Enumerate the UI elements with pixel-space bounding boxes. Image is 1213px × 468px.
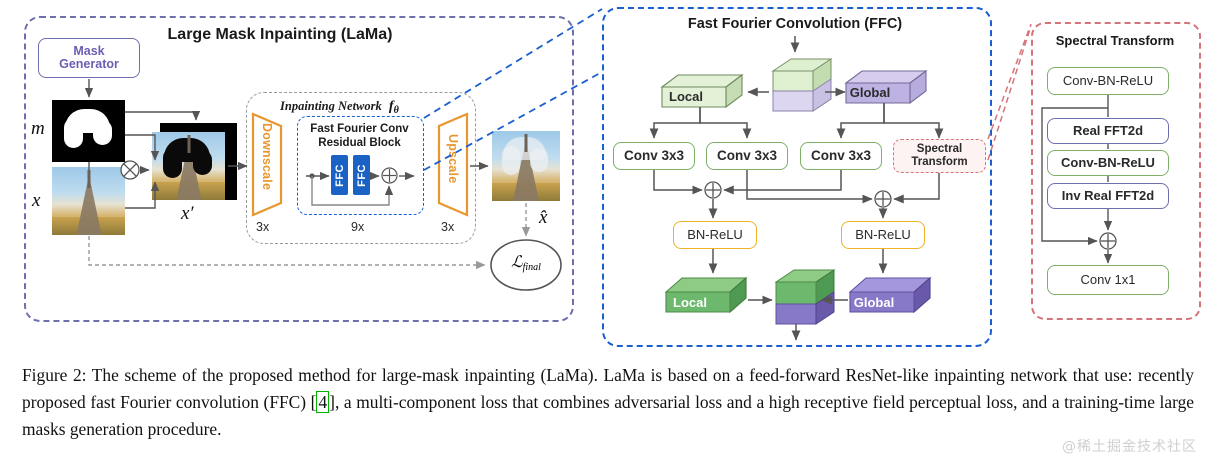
ffc-sum-left xyxy=(704,181,722,199)
merged-output-cube xyxy=(772,266,836,330)
downscale-label: Downscale xyxy=(260,123,274,190)
conv-3x3-box-2[interactable]: Conv 3x3 xyxy=(706,142,788,170)
spectral-panel-title: Spectral Transform xyxy=(1038,33,1192,48)
global-output-box: Global xyxy=(848,276,932,316)
loss-node: ℒfinal xyxy=(489,238,563,292)
source-image xyxy=(52,167,125,235)
spectral-transform-ref-box[interactable]: Spectral Transform xyxy=(893,139,986,173)
spectral-step-conv-bn-relu-2[interactable]: Conv-BN-ReLU xyxy=(1047,150,1169,176)
bn-relu-box-right[interactable]: BN-ReLU xyxy=(841,221,925,249)
inpainting-network-label: Inpainting Network fθ xyxy=(280,99,395,115)
ffc-block-2[interactable]: FFC xyxy=(353,155,370,195)
masked-image-symbol: x′ xyxy=(181,203,194,225)
loss-label: ℒ xyxy=(511,254,523,271)
upscale-label: Upscale xyxy=(446,134,460,183)
inpainting-network-label-text: Inpainting Network xyxy=(280,99,382,113)
spectral-step-conv-bn-relu-1[interactable]: Conv-BN-ReLU xyxy=(1047,67,1169,95)
mask-symbol: m xyxy=(31,118,45,140)
ffc-sum-right xyxy=(874,190,892,208)
inpainting-network-fn: f xyxy=(389,99,394,114)
conv-3x3-box-3[interactable]: Conv 3x3 xyxy=(800,142,882,170)
spectral-ref-line2: Transform xyxy=(911,156,967,169)
bn-relu-box-left[interactable]: BN-ReLU xyxy=(673,221,757,249)
ffc-block-2-label: FFC xyxy=(356,164,368,187)
ffc-panel-title: Fast Fourier Convolution (FFC) xyxy=(620,16,970,32)
global-output-label: Global xyxy=(832,295,916,310)
residual-block-line1: Fast Fourier Conv xyxy=(299,122,420,136)
local-output-label: Local xyxy=(648,295,732,310)
global-input-box: Global xyxy=(844,69,928,107)
lama-panel-title: Large Mask Inpainting (LaMa) xyxy=(150,26,410,44)
local-input-box: Local xyxy=(660,73,744,111)
spectral-ref-line1: Spectral xyxy=(917,143,962,156)
output-image xyxy=(492,131,560,201)
image-symbol: x xyxy=(32,190,40,212)
citation-link-4[interactable]: 4 xyxy=(316,391,329,413)
caption-prefix: Figure 2: xyxy=(22,365,87,385)
residual-block-line2: Residual Block xyxy=(299,136,420,150)
figure-caption: Figure 2: The scheme of the proposed met… xyxy=(22,362,1194,443)
local-input-label: Local xyxy=(644,89,728,104)
loss-subscript: final xyxy=(523,262,541,273)
mask-generator-box[interactable]: Mask Generator xyxy=(38,38,140,78)
watermark: @稀土掘金技术社区 xyxy=(1062,436,1197,456)
mask-generator-label-line1: Mask xyxy=(73,45,104,59)
mask-image xyxy=(52,100,125,162)
masked-image xyxy=(152,132,225,200)
mask-generator-label-line2: Generator xyxy=(59,58,119,72)
downscale-repeat: 3x xyxy=(256,220,269,234)
local-output-box: Local xyxy=(664,276,748,316)
figure-diagram: Large Mask Inpainting (LaMa) Mask Genera… xyxy=(0,0,1213,355)
residual-sum-operator xyxy=(381,167,398,184)
input-split-cube xyxy=(769,55,833,117)
ffc-block-1-label: FFC xyxy=(334,164,346,187)
residual-block-repeat: 9x xyxy=(351,220,364,234)
multiply-operator xyxy=(120,160,140,180)
upscale-repeat: 3x xyxy=(441,220,454,234)
spectral-step-conv-1x1[interactable]: Conv 1x1 xyxy=(1047,265,1169,295)
ffc-residual-block-title: Fast Fourier Conv Residual Block xyxy=(299,122,420,150)
spectral-sum-operator xyxy=(1099,232,1117,250)
conv-3x3-box-1[interactable]: Conv 3x3 xyxy=(613,142,695,170)
ffc-block-1[interactable]: FFC xyxy=(331,155,348,195)
inpainting-network-fn-sub: θ xyxy=(394,105,399,116)
spectral-step-inv-real-fft2d[interactable]: Inv Real FFT2d xyxy=(1047,183,1169,209)
spectral-step-real-fft2d[interactable]: Real FFT2d xyxy=(1047,118,1169,144)
output-symbol: x̂ xyxy=(539,207,547,229)
global-input-label: Global xyxy=(828,85,912,100)
